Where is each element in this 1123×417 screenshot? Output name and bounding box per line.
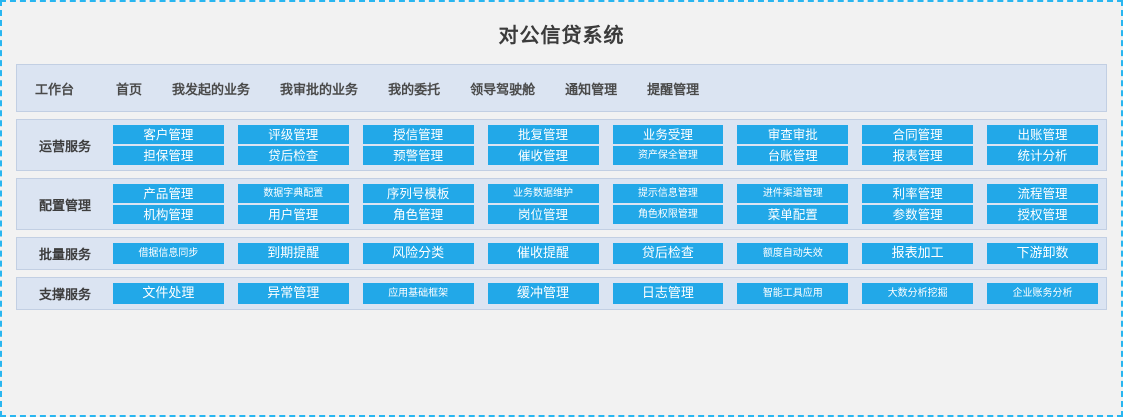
nav-item-1[interactable]: 首页 (116, 79, 142, 98)
module-button[interactable]: 参数管理 (862, 205, 973, 224)
module-button[interactable]: 到期提醒 (238, 243, 349, 264)
nav-item-3[interactable]: 我审批的业务 (280, 79, 358, 98)
main-navigation-bar: 工作台首页我发起的业务我审批的业务我的委托领导驾驶舱通知管理提醒管理 (16, 64, 1107, 112)
module-button[interactable]: 客户管理 (113, 125, 224, 144)
section-0: 运营服务客户管理评级管理授信管理批复管理业务受理审查审批合同管理出账管理担保管理… (16, 119, 1107, 171)
module-button[interactable]: 缓冲管理 (488, 283, 599, 304)
section-button-grid-2: 借据信息同步到期提醒风险分类催收提醒贷后检查额度自动失效报表加工下游卸数 (113, 243, 1098, 264)
module-button[interactable]: 岗位管理 (488, 205, 599, 224)
module-button[interactable]: 企业账务分析 (987, 283, 1098, 304)
module-sections: 运营服务客户管理评级管理授信管理批复管理业务受理审查审批合同管理出账管理担保管理… (16, 119, 1107, 310)
section-2: 批量服务借据信息同步到期提醒风险分类催收提醒贷后检查额度自动失效报表加工下游卸数 (16, 237, 1107, 270)
module-button[interactable]: 出账管理 (987, 125, 1098, 144)
module-button[interactable]: 催收提醒 (488, 243, 599, 264)
section-button-grid-0: 客户管理评级管理授信管理批复管理业务受理审查审批合同管理出账管理担保管理贷后检查… (113, 125, 1098, 165)
module-button[interactable]: 额度自动失效 (737, 243, 848, 264)
section-button-grid-3: 文件处理异常管理应用基础框架缓冲管理日志管理智能工具应用大数分析挖掘企业账务分析 (113, 283, 1098, 304)
section-label-1: 配置管理 (17, 195, 113, 214)
nav-item-7[interactable]: 提醒管理 (647, 79, 699, 98)
module-button[interactable]: 智能工具应用 (737, 283, 848, 304)
module-button[interactable]: 贷后检查 (613, 243, 724, 264)
nav-item-4[interactable]: 我的委托 (388, 79, 440, 98)
section-3: 支撑服务文件处理异常管理应用基础框架缓冲管理日志管理智能工具应用大数分析挖掘企业… (16, 277, 1107, 310)
module-button[interactable]: 批复管理 (488, 125, 599, 144)
module-button[interactable]: 贷后检查 (238, 146, 349, 165)
nav-item-6[interactable]: 通知管理 (565, 79, 617, 98)
module-button[interactable]: 大数分析挖掘 (862, 283, 973, 304)
module-button[interactable]: 风险分类 (363, 243, 474, 264)
module-button[interactable]: 报表加工 (862, 243, 973, 264)
page-title: 对公信贷系统 (499, 19, 625, 48)
module-button[interactable]: 合同管理 (862, 125, 973, 144)
module-button[interactable]: 资产保全管理 (613, 146, 724, 165)
module-button[interactable]: 进件渠道管理 (737, 184, 848, 203)
module-button[interactable]: 用户管理 (238, 205, 349, 224)
module-button[interactable]: 下游卸数 (987, 243, 1098, 264)
nav-item-5[interactable]: 领导驾驶舱 (470, 79, 535, 98)
module-button[interactable]: 角色管理 (363, 205, 474, 224)
module-button[interactable]: 业务受理 (613, 125, 724, 144)
module-button[interactable]: 借据信息同步 (113, 243, 224, 264)
module-button[interactable]: 机构管理 (113, 205, 224, 224)
module-button[interactable]: 日志管理 (613, 283, 724, 304)
module-button[interactable]: 业务数据维护 (488, 184, 599, 203)
module-button[interactable]: 提示信息管理 (613, 184, 724, 203)
module-button[interactable]: 审查审批 (737, 125, 848, 144)
module-button[interactable]: 报表管理 (862, 146, 973, 165)
section-1: 配置管理产品管理数据字典配置序列号模板业务数据维护提示信息管理进件渠道管理利率管… (16, 178, 1107, 230)
nav-item-0[interactable]: 工作台 (35, 79, 74, 98)
module-button[interactable]: 数据字典配置 (238, 184, 349, 203)
module-button[interactable]: 角色权限管理 (613, 205, 724, 224)
module-button[interactable]: 利率管理 (862, 184, 973, 203)
module-button[interactable]: 菜单配置 (737, 205, 848, 224)
module-button[interactable]: 预警管理 (363, 146, 474, 165)
module-button[interactable]: 序列号模板 (363, 184, 474, 203)
module-button[interactable]: 异常管理 (238, 283, 349, 304)
nav-item-2[interactable]: 我发起的业务 (172, 79, 250, 98)
application-window: 对公信贷系统 工作台首页我发起的业务我审批的业务我的委托领导驾驶舱通知管理提醒管… (0, 0, 1123, 417)
module-button[interactable]: 评级管理 (238, 125, 349, 144)
section-label-0: 运营服务 (17, 136, 113, 155)
module-button[interactable]: 统计分析 (987, 146, 1098, 165)
module-button[interactable]: 担保管理 (113, 146, 224, 165)
module-button[interactable]: 授信管理 (363, 125, 474, 144)
module-button[interactable]: 产品管理 (113, 184, 224, 203)
title-bar: 对公信贷系统 (2, 2, 1121, 64)
module-button[interactable]: 应用基础框架 (363, 283, 474, 304)
section-button-grid-1: 产品管理数据字典配置序列号模板业务数据维护提示信息管理进件渠道管理利率管理流程管… (113, 184, 1098, 224)
section-label-2: 批量服务 (17, 244, 113, 263)
module-button[interactable]: 流程管理 (987, 184, 1098, 203)
section-label-3: 支撑服务 (17, 284, 113, 303)
module-button[interactable]: 台账管理 (737, 146, 848, 165)
module-button[interactable]: 文件处理 (113, 283, 224, 304)
module-button[interactable]: 催收管理 (488, 146, 599, 165)
module-button[interactable]: 授权管理 (987, 205, 1098, 224)
